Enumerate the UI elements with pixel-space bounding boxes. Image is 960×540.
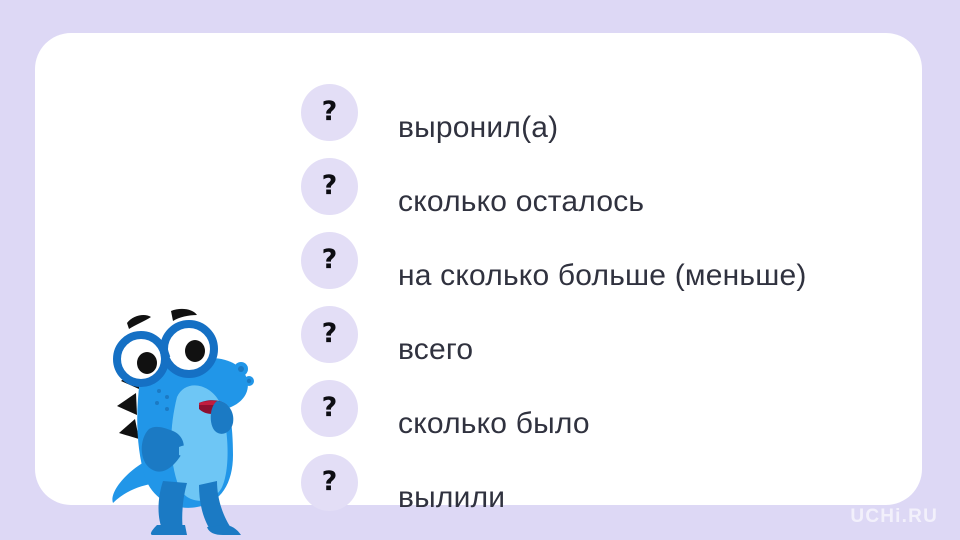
list-item[interactable]: ? всего [301,305,960,379]
list-item[interactable]: ? сколько осталось [301,157,960,231]
question-mark-badge: ? [301,306,358,363]
list-item[interactable]: ? сколько было [301,379,960,453]
question-mark-icon: ? [322,98,338,125]
list-item-label: выронил(а) [398,111,558,145]
question-mark-badge: ? [301,454,358,511]
list-item[interactable]: ? на сколько больше (меньше) [301,231,960,305]
dinosaur-mascot-icon [91,305,271,535]
question-mark-icon: ? [322,246,338,273]
question-mark-badge: ? [301,158,358,215]
question-mark-icon: ? [322,320,338,347]
list-item-label: на сколько больше (меньше) [398,259,807,293]
content-card: ? выронил(а) ? сколько осталось ? на ско… [35,33,922,505]
question-mark-badge: ? [301,380,358,437]
slide-root: ? выронил(а) ? сколько осталось ? на ско… [0,0,960,540]
list-item[interactable]: ? выронил(а) [301,83,960,157]
list-item-label: всего [398,333,473,367]
question-mark-icon: ? [322,172,338,199]
keyword-list: ? выронил(а) ? сколько осталось ? на ско… [301,83,960,527]
question-mark-icon: ? [322,468,338,495]
list-item-label: сколько было [398,407,590,441]
uchi-ru-watermark: UCHi.RU [850,506,938,528]
question-mark-badge: ? [301,232,358,289]
question-mark-icon: ? [322,394,338,421]
list-item-label: вылили [398,481,505,515]
list-item-label: сколько осталось [398,185,644,219]
question-mark-badge: ? [301,84,358,141]
